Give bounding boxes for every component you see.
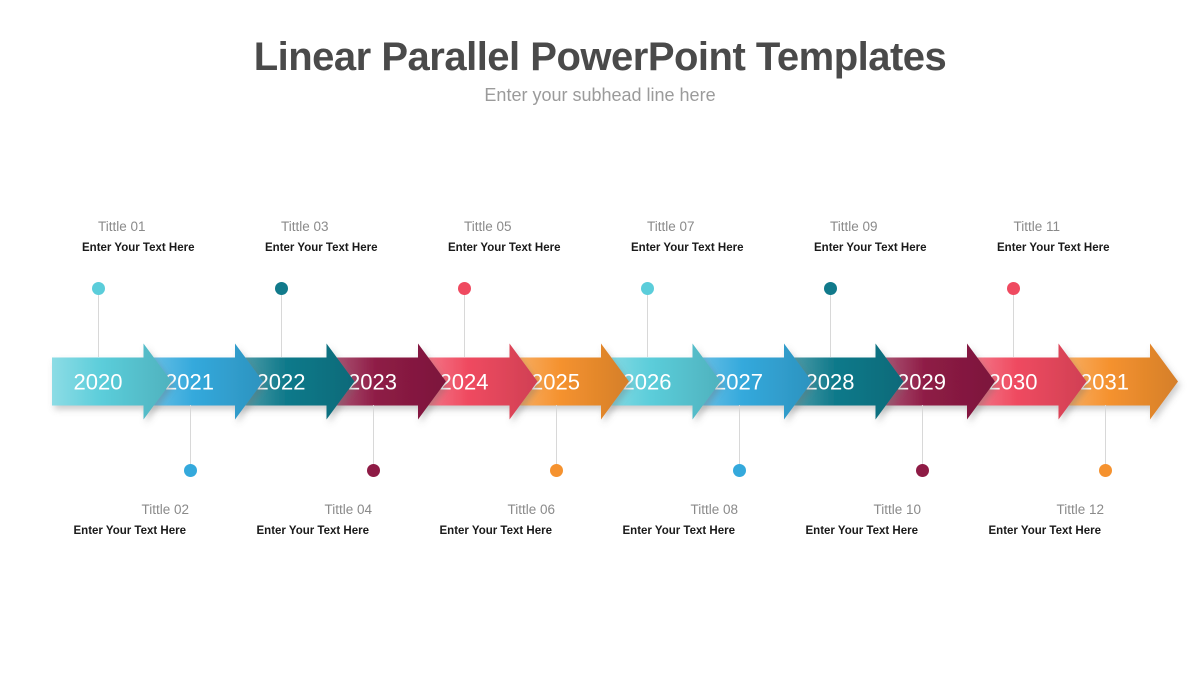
- connector-line: [373, 405, 374, 470]
- milestone-dot[interactable]: [1099, 464, 1112, 477]
- milestone-dot[interactable]: [916, 464, 929, 477]
- milestone-dot[interactable]: [184, 464, 197, 477]
- connector-line: [556, 405, 557, 470]
- milestone-dot[interactable]: [550, 464, 563, 477]
- arrow-timeline: 2031203020292028202720262025202420232022…: [0, 331, 1200, 431]
- step-body-label: Enter Your Text Here: [82, 242, 194, 254]
- step-title-label: Tittle 06: [508, 502, 556, 517]
- milestone-dot[interactable]: [824, 282, 837, 295]
- connector-line: [190, 405, 191, 470]
- slide-canvas: Linear Parallel PowerPoint Templates Ent…: [0, 0, 1200, 675]
- step-body-label: Enter Your Text Here: [997, 242, 1109, 254]
- arrow-year-label: 2021: [165, 369, 214, 394]
- arrow-year-label: 2029: [897, 369, 946, 394]
- step-title-label: Tittle 03: [281, 219, 329, 234]
- connector-line: [464, 288, 465, 357]
- step-body-label: Enter Your Text Here: [806, 525, 918, 537]
- step-body-label: Enter Your Text Here: [623, 525, 735, 537]
- arrow-year-label: 2030: [989, 369, 1038, 394]
- milestone-dot[interactable]: [641, 282, 654, 295]
- connector-line: [98, 288, 99, 357]
- step-title-label: Tittle 04: [325, 502, 373, 517]
- milestone-dot[interactable]: [1007, 282, 1020, 295]
- step-title-label: Tittle 11: [1014, 219, 1061, 234]
- arrow-year-label: 2023: [348, 369, 397, 394]
- step-body-label: Enter Your Text Here: [814, 242, 926, 254]
- connector-line: [1013, 288, 1014, 357]
- step-title-label: Tittle 05: [464, 219, 512, 234]
- step-title-label: Tittle 01: [98, 219, 146, 234]
- step-body-label: Enter Your Text Here: [989, 525, 1101, 537]
- step-body-label: Enter Your Text Here: [448, 242, 560, 254]
- arrow-year-label: 2024: [440, 369, 489, 394]
- step-body-label: Enter Your Text Here: [257, 525, 369, 537]
- milestone-dot[interactable]: [733, 464, 746, 477]
- milestone-dot[interactable]: [367, 464, 380, 477]
- step-title-label: Tittle 10: [874, 502, 922, 517]
- arrow-year-label: 2025: [531, 369, 580, 394]
- step-body-label: Enter Your Text Here: [74, 525, 186, 537]
- page-title: Linear Parallel PowerPoint Templates: [0, 35, 1200, 80]
- connector-line: [739, 405, 740, 470]
- connector-line: [647, 288, 648, 357]
- step-title-label: Tittle 02: [142, 502, 190, 517]
- connector-line: [830, 288, 831, 357]
- step-title-label: Tittle 12: [1057, 502, 1105, 517]
- connector-line: [1105, 405, 1106, 470]
- connector-line: [922, 405, 923, 470]
- arrow-year-label: 2031: [1080, 369, 1129, 394]
- step-body-label: Enter Your Text Here: [631, 242, 743, 254]
- step-title-label: Tittle 08: [691, 502, 739, 517]
- milestone-dot[interactable]: [458, 282, 471, 295]
- arrow-year-label: 2020: [74, 369, 123, 394]
- milestone-dot[interactable]: [92, 282, 105, 295]
- step-title-label: Tittle 09: [830, 219, 878, 234]
- arrow-year-label: 2027: [714, 369, 763, 394]
- arrow-year-label: 2026: [623, 369, 672, 394]
- step-title-label: Tittle 07: [647, 219, 695, 234]
- milestone-dot[interactable]: [275, 282, 288, 295]
- page-subtitle: Enter your subhead line here: [0, 85, 1200, 106]
- step-body-label: Enter Your Text Here: [440, 525, 552, 537]
- step-body-label: Enter Your Text Here: [265, 242, 377, 254]
- arrow-year-label: 2028: [806, 369, 855, 394]
- connector-line: [281, 288, 282, 357]
- arrow-year-label: 2022: [257, 369, 306, 394]
